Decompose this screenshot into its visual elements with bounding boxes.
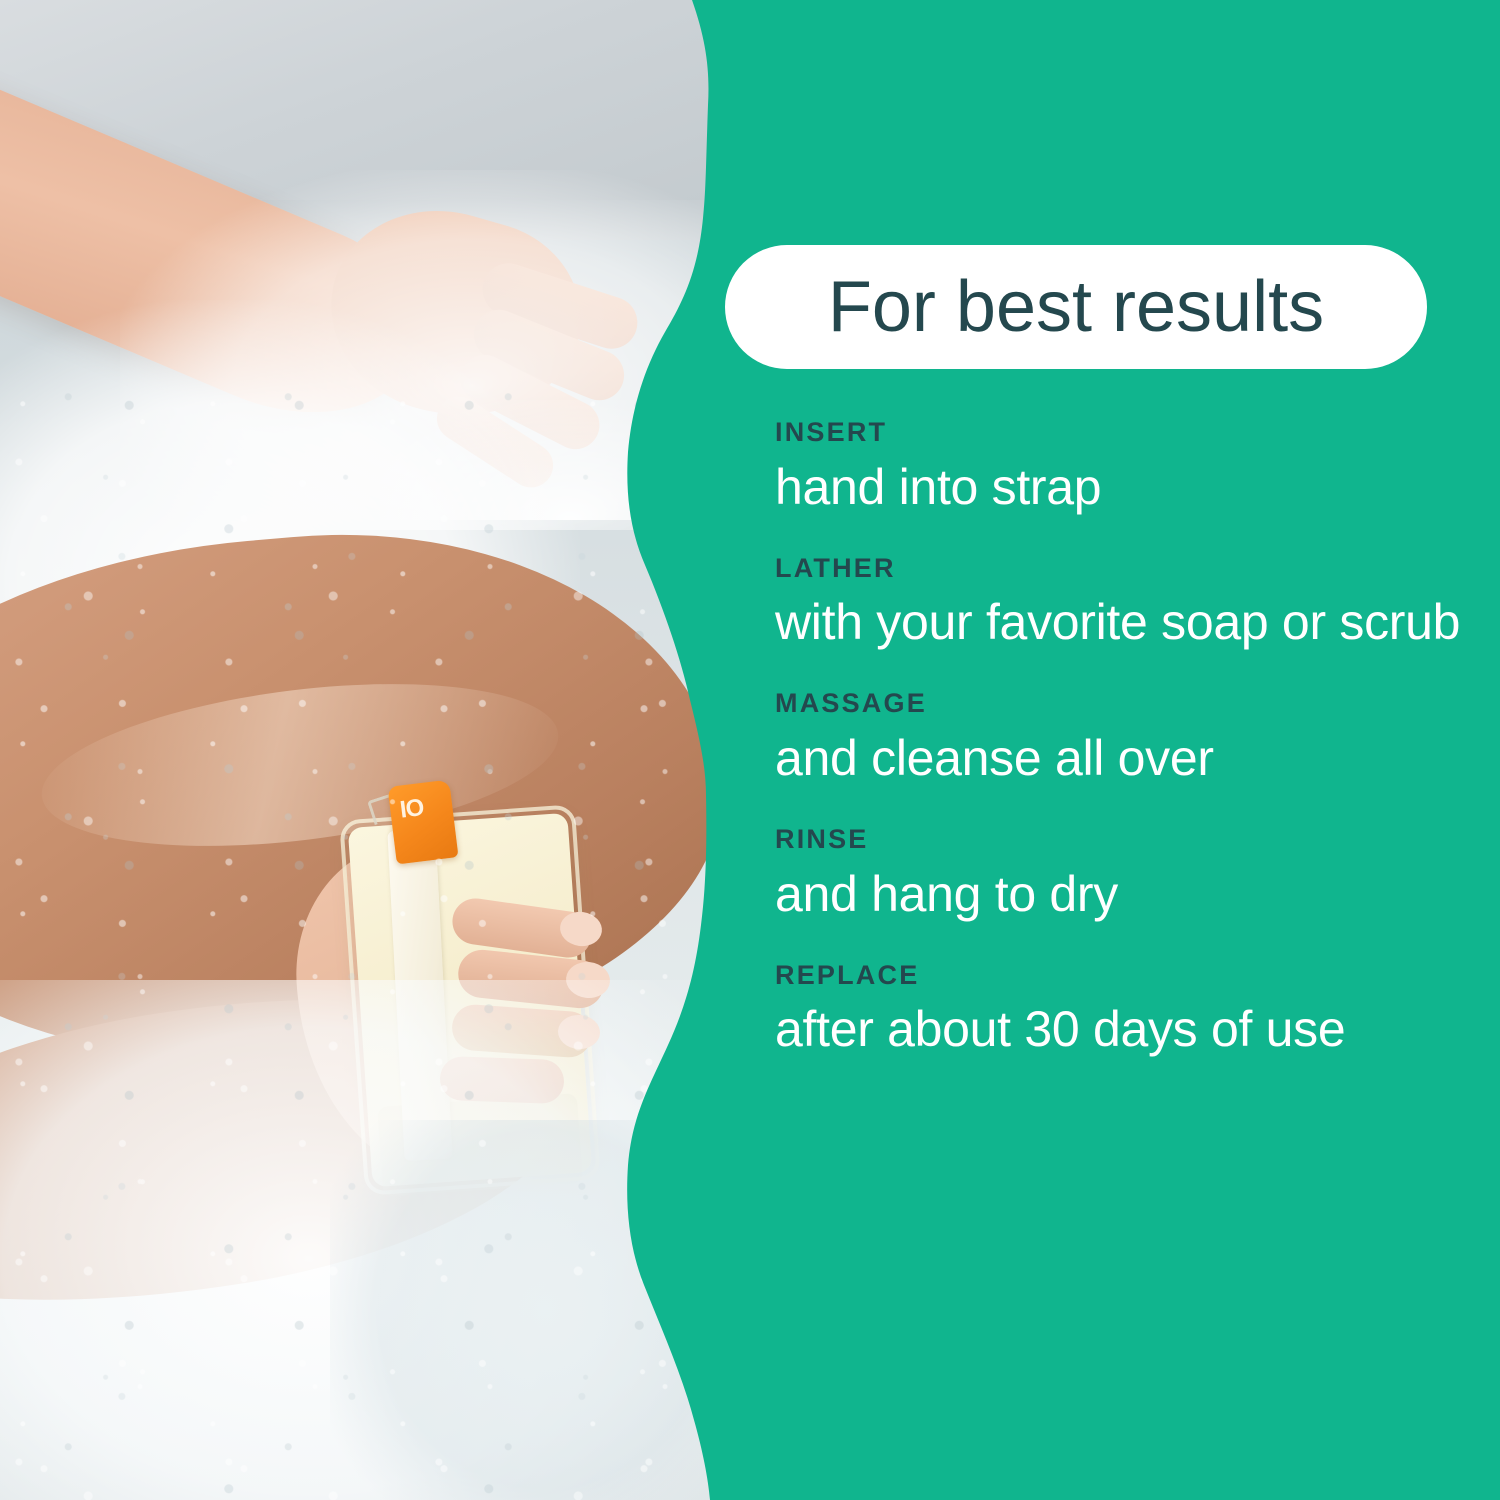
- step-text-lather: with your favorite soap or scrub: [775, 593, 1465, 651]
- title-pill: For best results: [725, 245, 1427, 369]
- step-text-replace: after about 30 days of use: [775, 1000, 1465, 1058]
- step-label-massage: MASSAGE: [775, 689, 1465, 719]
- step-text-massage: and cleanse all over: [775, 729, 1465, 787]
- step-item-replace: REPLACE after about 30 days of use: [775, 961, 1465, 1059]
- step-text-insert: hand into strap: [775, 458, 1465, 516]
- step-text-rinse: and hang to dry: [775, 865, 1465, 923]
- step-label-rinse: RINSE: [775, 825, 1465, 855]
- step-item-insert: INSERT hand into strap: [775, 418, 1465, 516]
- step-label-insert: INSERT: [775, 418, 1465, 448]
- steps-list: INSERT hand into strap LATHER with your …: [775, 418, 1465, 1058]
- step-label-replace: REPLACE: [775, 961, 1465, 991]
- step-item-rinse: RINSE and hang to dry: [775, 825, 1465, 923]
- step-item-lather: LATHER with your favorite soap or scrub: [775, 554, 1465, 652]
- panel-content: For best results INSERT hand into strap …: [0, 0, 1500, 1500]
- step-label-lather: LATHER: [775, 554, 1465, 584]
- product-instruction-infographic: IO For best results INSERT hand into str…: [0, 0, 1500, 1500]
- page-title: For best results: [828, 271, 1324, 343]
- step-item-massage: MASSAGE and cleanse all over: [775, 689, 1465, 787]
